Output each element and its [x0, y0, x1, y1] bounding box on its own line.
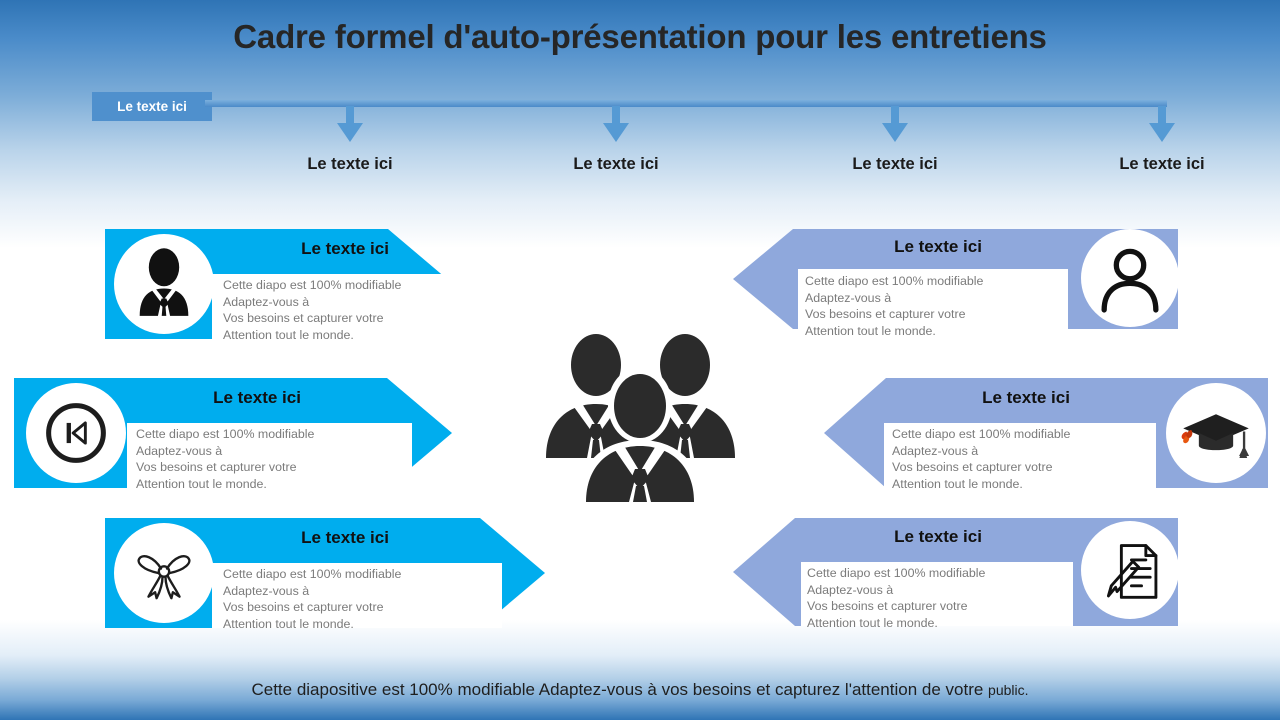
center-graphic: [538, 330, 743, 502]
footer-caption: Cette diapositive est 100% modifiable Ad…: [0, 680, 1280, 700]
businessman-avatar-icon: [126, 246, 202, 322]
timeline-arrow-head: [337, 123, 363, 142]
left-card-2-icon-circle: [26, 383, 126, 483]
page-title: Cadre formel d'auto-présentation pour le…: [0, 18, 1280, 56]
timeline-arrow-2: [603, 106, 629, 142]
timeline-badge[interactable]: Le texte ici: [92, 92, 212, 121]
left-card-3[interactable]: Le texte ici Cette diapo est 100% modifi…: [105, 518, 545, 628]
document-pen-icon: [1094, 534, 1166, 606]
skip-back-icon: [40, 397, 112, 469]
timeline-arrow-head: [882, 123, 908, 142]
right-card-1-heading: Le texte ici: [808, 237, 1068, 257]
right-card-2-body: Cette diapo est 100% modifiable Adaptez-…: [892, 426, 1154, 492]
right-card-2[interactable]: Le texte ici Cette diapo est 100% modifi…: [824, 378, 1268, 488]
left-card-3-icon-circle: [114, 523, 214, 623]
left-card-1-body: Cette diapo est 100% modifiable Adaptez-…: [223, 277, 483, 343]
person-outline-icon: [1092, 240, 1168, 316]
left-card-1-icon-circle: [114, 234, 214, 334]
timeline-step-label-4: Le texte ici: [1062, 155, 1262, 174]
graduation-cap-icon: [1177, 394, 1255, 472]
left-card-1[interactable]: Le texte ici Cette diapo est 100% modifi…: [105, 229, 453, 339]
right-card-1-body: Cette diapo est 100% modifiable Adaptez-…: [805, 273, 1065, 339]
right-card-3[interactable]: Le texte ici Cette diapo est 100% modifi…: [733, 518, 1178, 626]
timeline-arrow-4: [1149, 106, 1175, 142]
left-card-2[interactable]: Le texte ici Cette diapo est 100% modifi…: [14, 378, 452, 488]
timeline-badge-label: Le texte ici: [117, 99, 187, 114]
team-group-icon: [538, 330, 743, 502]
right-card-3-heading: Le texte ici: [808, 527, 1068, 547]
timeline-arrow-3: [882, 106, 908, 142]
left-card-2-heading: Le texte ici: [132, 388, 382, 408]
timeline-step-label-2: Le texte ici: [516, 155, 716, 174]
timeline-arrow-1: [337, 106, 363, 142]
ribbon-bow-icon: [127, 536, 201, 610]
footer-caption-tail: public.: [988, 682, 1028, 698]
right-card-2-heading: Le texte ici: [896, 388, 1156, 408]
footer-caption-main: Cette diapositive est 100% modifiable Ad…: [251, 680, 988, 699]
left-card-2-body: Cette diapo est 100% modifiable Adaptez-…: [136, 426, 406, 492]
right-card-3-body: Cette diapo est 100% modifiable Adaptez-…: [807, 565, 1069, 631]
timeline-arrow-head: [1149, 123, 1175, 142]
right-card-2-icon-circle: [1166, 383, 1266, 483]
left-card-3-body: Cette diapo est 100% modifiable Adaptez-…: [223, 566, 498, 632]
left-card-3-heading: Le texte ici: [220, 528, 470, 548]
right-card-3-icon-circle: [1081, 521, 1179, 619]
slide-canvas: Cadre formel d'auto-présentation pour le…: [0, 0, 1280, 720]
timeline-step-label-1: Le texte ici: [250, 155, 450, 174]
timeline-step-label-3: Le texte ici: [795, 155, 995, 174]
right-card-1[interactable]: Le texte ici Cette diapo est 100% modifi…: [733, 229, 1178, 329]
left-card-1-heading: Le texte ici: [220, 239, 470, 259]
right-card-1-icon-circle: [1081, 229, 1179, 327]
timeline-arrow-head: [603, 123, 629, 142]
